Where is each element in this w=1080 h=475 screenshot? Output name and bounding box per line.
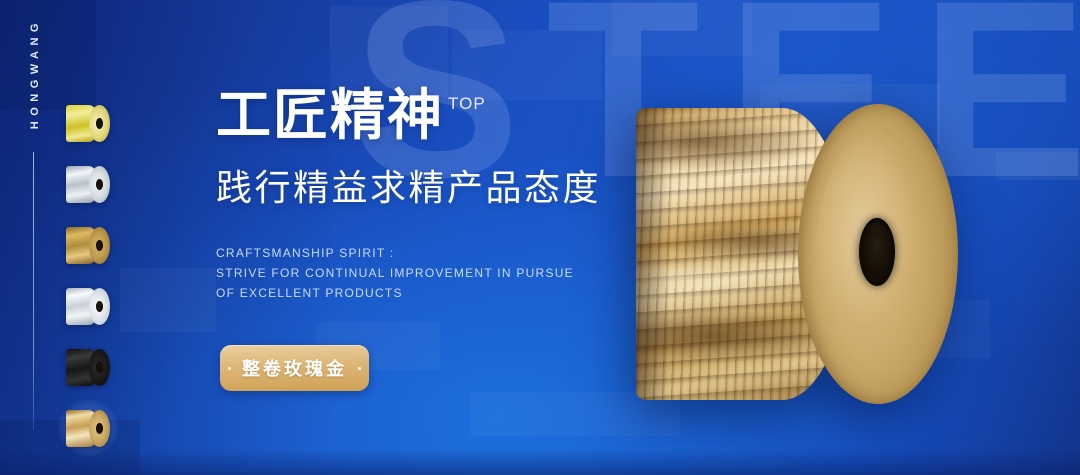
- coil-icon: [66, 166, 110, 203]
- english-tagline-line-2: STRIVE FOR CONTINUAL IMPROVEMENT IN PURS…: [216, 263, 574, 283]
- coil-icon: [66, 410, 110, 447]
- coil-icon-hole: [96, 362, 103, 373]
- cta-button-rose-gold-coil[interactable]: 整卷玫瑰金: [220, 345, 369, 391]
- rail-divider-line: [33, 152, 34, 430]
- headline-row: 工匠精神 TOP: [216, 88, 486, 143]
- bottom-vignette: [0, 449, 1080, 475]
- coil-icon-hole: [96, 240, 103, 251]
- left-vignette: [0, 0, 330, 475]
- coil-thumbnail-4[interactable]: [52, 279, 124, 333]
- coil-icon-hole: [96, 118, 103, 129]
- coil-thumbnail-5[interactable]: [52, 340, 124, 394]
- bullet-dot-left: [228, 367, 231, 370]
- coil-thumbnail-list[interactable]: [52, 96, 124, 455]
- background-shape-6: [120, 268, 216, 332]
- bullet-dot-right: [358, 367, 361, 370]
- english-tagline-line-1: CRAFTSMANSHIP SPIRIT :: [216, 243, 574, 263]
- title-superscript-top: TOP: [448, 94, 486, 114]
- english-tagline-line-3: OF EXCELLENT PRODUCTS: [216, 283, 574, 303]
- coil-icon-hole: [96, 301, 103, 312]
- coil-icon: [66, 349, 110, 386]
- hero-coil-image: [636, 108, 958, 400]
- cta-button-label: 整卷玫瑰金: [242, 355, 347, 381]
- coil-thumbnail-3[interactable]: [52, 218, 124, 272]
- coil-icon-hole: [96, 179, 103, 190]
- background-shape-5: [996, 152, 1080, 180]
- coil-thumbnail-6[interactable]: [52, 401, 124, 455]
- brand-rail: HONGWANG: [22, 18, 48, 158]
- subtitle: 践行精益求精产品态度: [216, 167, 601, 209]
- page-title: 工匠精神: [216, 88, 444, 143]
- coil-thumbnail-1[interactable]: [52, 96, 124, 150]
- coil-icon: [66, 227, 110, 264]
- coil-icon: [66, 105, 110, 142]
- background-shape-3: [612, 0, 752, 56]
- coil-center-hole: [859, 218, 895, 286]
- promo-banner: STEEL HONGWANG 工匠精神 TOP 践行精益求精产品态度 CRAFT…: [0, 0, 1080, 475]
- coil-thumbnail-2[interactable]: [52, 157, 124, 211]
- background-shape-0: [0, 0, 96, 110]
- coil-icon-hole: [96, 423, 103, 434]
- brand-name-vertical: HONGWANG: [29, 18, 41, 129]
- english-tagline: CRAFTSMANSHIP SPIRIT :STRIVE FOR CONTINU…: [216, 243, 574, 303]
- coil-icon: [66, 288, 110, 325]
